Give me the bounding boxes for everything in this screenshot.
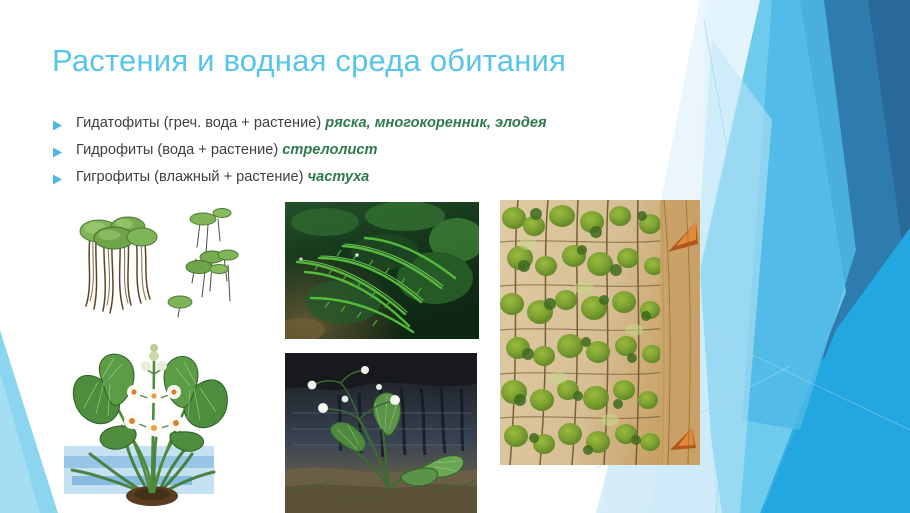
bullet-list: Гидатофиты (греч. вода + растение) ряска…: [52, 114, 692, 196]
bg-wedge-bottom-left: [0, 330, 58, 513]
bg-hairline-diagonal: [700, 330, 910, 430]
bullet-text: Гигрофиты (влажный + растение) частуха: [76, 168, 369, 186]
image-arrowhead-illustration: [62, 334, 262, 510]
bullet-item-hydrophytes: Гидрофиты (вода + растение) стрелолист: [52, 141, 692, 159]
species-names: ряска, многокоренник, элодея: [325, 115, 546, 131]
image-elodea-underwater-photo: [285, 202, 479, 339]
bullet-text: Гидрофиты (вода + растение) стрелолист: [76, 141, 377, 159]
image-elodea-cells-micrograph: [500, 200, 700, 465]
bullet-term: Гидрофиты (вода + растение): [76, 142, 278, 158]
arrowhead-illustration-graphic: [62, 334, 262, 510]
duckweed-illustration-graphic: [62, 205, 258, 329]
species-names: частуха: [308, 169, 370, 185]
bg-shape-deep-right: [773, 0, 910, 513]
triangle-right-bullet-icon: [52, 174, 67, 185]
bg-wedge-bottom-left-soft: [0, 372, 40, 513]
bullet-text: Гидатофиты (греч. вода + растение) ряска…: [76, 114, 547, 132]
bg-shape-dark-right: [804, 0, 910, 513]
elodea-cells-graphic: [500, 200, 700, 465]
bullet-item-hygrophytes: Гигрофиты (влажный + растение) частуха: [52, 168, 692, 186]
triangle-right-bullet-icon: [52, 147, 67, 158]
elodea-underwater-graphic: [285, 202, 479, 339]
page-title: Растения и водная среда обитания: [52, 44, 672, 78]
image-water-plantain-photo: [285, 353, 477, 513]
triangle-right-bullet-icon: [52, 120, 67, 131]
image-duckweed-illustration: [62, 205, 258, 329]
water-plantain-graphic: [285, 353, 477, 513]
slide-canvas: Растения и водная среда обитания Гидатоф…: [0, 0, 910, 513]
bg-shape-bright-bottom: [762, 228, 910, 513]
bg-shape-mid-band: [742, 0, 856, 430]
bullet-item-hydatophytes: Гидатофиты (греч. вода + растение) ряска…: [52, 114, 692, 132]
title-area: Растения и водная среда обитания: [52, 44, 672, 78]
bullet-term: Гигрофиты (влажный + растение): [76, 169, 304, 185]
bullet-term: Гидатофиты (греч. вода + растение): [76, 115, 321, 131]
bg-hairline-upper: [704, 20, 742, 513]
species-names: стрелолист: [282, 142, 377, 158]
